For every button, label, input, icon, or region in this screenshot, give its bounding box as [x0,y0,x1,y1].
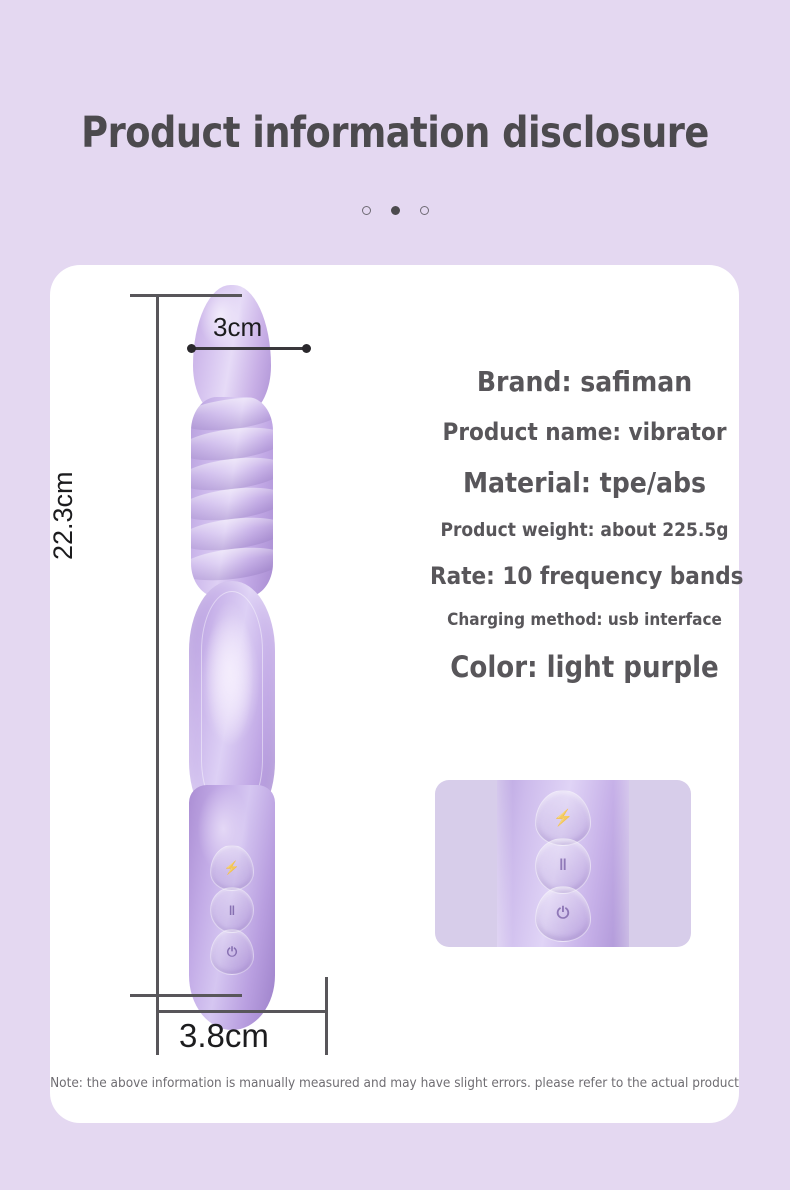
page-title: Product information disclosure [20,108,771,158]
tip-width-endpoint-right [302,344,311,353]
base-width-caliper-right [325,977,328,1055]
vibration-mode-button[interactable]: ⚡ [210,845,254,891]
product-tip [193,285,271,415]
height-measurement-label: 22.3cm [48,471,79,560]
product-button-cluster: ⚡ ‖ ⏻ [205,845,259,975]
spec-charging-method: Charging method: usb interface [430,610,739,630]
height-measure-top-tick [130,294,242,297]
power-button[interactable]: ⏻ [210,929,254,975]
height-measure-line [156,294,159,996]
pagination-dot-1[interactable] [362,206,371,215]
closeup-edge-highlight-left [497,780,513,947]
product-diagram: ⚡ ‖ ⏻ 22.3cm 3cm 3.8cm [50,265,430,1123]
base-width-caliper-left [156,977,159,1055]
tip-width-label: 3cm [213,312,262,343]
spec-product-weight: Product weight: about 225.5g [430,519,739,541]
product-illustration: ⚡ ‖ ⏻ [167,285,297,1030]
specification-list: Brand: safiman Product name: vibrator Ma… [430,365,739,684]
pagination-dots [0,206,790,215]
disclaimer-note: Note: the above information is manually … [50,1075,739,1091]
spec-product-name: Product name: vibrator [430,418,739,446]
spec-material: Material: tpe/abs [430,466,739,499]
pagination-dot-2[interactable] [391,206,400,215]
pagination-dot-3[interactable] [420,206,429,215]
spec-color: Color: light purple [430,650,739,684]
tip-width-endpoint-left [187,344,196,353]
spec-rate: Rate: 10 frequency bands [430,562,739,590]
closeup-edge-highlight-right [613,780,629,947]
base-width-label: 3.8cm [179,1017,269,1055]
spec-brand: Brand: safiman [430,365,739,398]
tip-width-measure-line [190,347,307,350]
button-panel-closeup-image: ⚡ ‖ ⏻ [435,780,691,947]
product-ribbed-shaft [191,397,273,597]
product-info-card: ⚡ ‖ ⏻ 22.3cm 3cm 3.8cm Brand: safiman Pr… [50,265,739,1123]
height-measure-bottom-tick [130,994,242,997]
pause-button[interactable]: ‖ [210,887,254,933]
base-width-measure-line [156,1010,328,1013]
